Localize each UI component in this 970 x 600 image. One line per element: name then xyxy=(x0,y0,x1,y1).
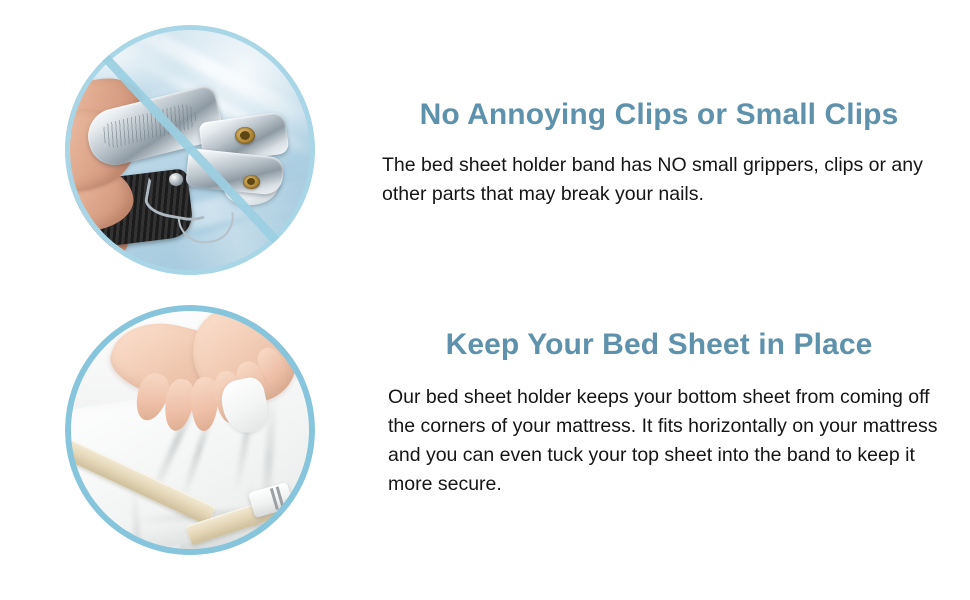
feature-1-heading: No Annoying Clips or Small Clips xyxy=(370,25,948,133)
feature-2-text-column: Keep Your Bed Sheet in Place Our bed she… xyxy=(370,305,970,499)
feature-section-keep-sheet-in-place: Keep Your Bed Sheet in Place Our bed she… xyxy=(0,305,970,565)
hands-smoothing-mattress-with-band-photo xyxy=(65,305,315,555)
clip-photo-inner xyxy=(65,25,315,275)
clip-rivet xyxy=(169,173,183,186)
clip-grommet-hole xyxy=(240,131,250,140)
mattress-photo-inner xyxy=(65,305,315,555)
feature-1-image-column xyxy=(0,25,370,275)
feature-2-image-column xyxy=(0,305,370,555)
hand-holding-metal-clip-photo xyxy=(65,25,315,275)
product-feature-infographic: No Annoying Clips or Small Clips The bed… xyxy=(0,0,970,600)
clip-grommet-hole xyxy=(247,178,255,185)
feature-1-body: The bed sheet holder band has NO small g… xyxy=(370,133,948,209)
hands-illustration xyxy=(111,305,301,449)
feature-1-text-column: No Annoying Clips or Small Clips The bed… xyxy=(370,25,970,209)
feature-section-no-clips: No Annoying Clips or Small Clips The bed… xyxy=(0,25,970,285)
feature-2-heading: Keep Your Bed Sheet in Place xyxy=(370,305,948,363)
feature-2-body: Our bed sheet holder keeps your bottom s… xyxy=(370,363,948,499)
